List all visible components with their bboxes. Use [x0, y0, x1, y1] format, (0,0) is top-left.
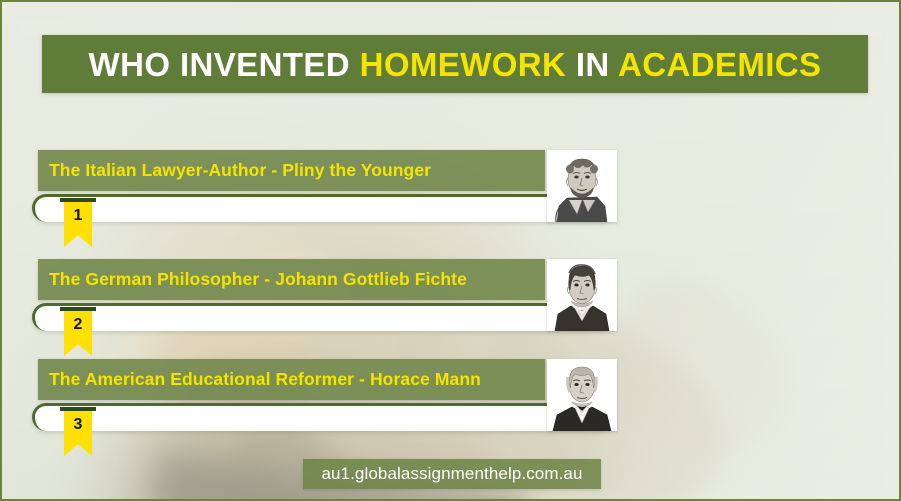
row-label-bar: The American Educational Reformer - Hora… — [38, 359, 545, 400]
row-pill-background — [32, 303, 615, 331]
title-segment-1: WHO INVENTED — [89, 46, 360, 83]
row-number-ribbon: 1 — [64, 198, 92, 247]
johann-gottlieb-fichte-portrait — [547, 259, 617, 331]
list-item-number: 3 — [74, 411, 83, 456]
ribbon-body: 3 — [64, 411, 92, 456]
title-bar: WHO INVENTED HOMEWORK IN ACADEMICS — [42, 35, 868, 93]
portrait-illustration — [547, 359, 617, 431]
row-pill-background — [32, 403, 615, 431]
portrait-illustration — [547, 259, 617, 331]
portrait-illustration — [547, 150, 617, 222]
row-number-ribbon: 2 — [64, 307, 92, 356]
ribbon-cap — [60, 307, 96, 311]
footer-url-text: au1.globalassignmenthelp.com.au — [321, 464, 582, 484]
list-item-number: 2 — [74, 311, 83, 356]
page-title: WHO INVENTED HOMEWORK IN ACADEMICS — [89, 48, 822, 81]
horace-mann-portrait — [547, 359, 617, 431]
list-item-number: 1 — [74, 202, 83, 247]
ribbon-cap — [60, 407, 96, 411]
row-label-bar: The Italian Lawyer-Author - Pliny the Yo… — [38, 150, 545, 191]
title-segment-4: ACADEMICS — [618, 46, 821, 83]
title-segment-2: HOMEWORK — [360, 46, 576, 83]
ribbon-cap — [60, 198, 96, 202]
list-item-label: The German Philosopher - Johann Gottlieb… — [38, 269, 467, 290]
row-number-ribbon: 3 — [64, 407, 92, 456]
title-segment-3: IN — [576, 46, 618, 83]
infographic-canvas: WHO INVENTED HOMEWORK IN ACADEMICS The I… — [0, 0, 901, 501]
pliny-the-younger-portrait — [547, 150, 617, 222]
row-pill-background — [32, 194, 615, 222]
ribbon-body: 2 — [64, 311, 92, 356]
list-item-label: The American Educational Reformer - Hora… — [38, 369, 481, 390]
footer-url-bar[interactable]: au1.globalassignmenthelp.com.au — [303, 459, 601, 489]
list-item-label: The Italian Lawyer-Author - Pliny the Yo… — [38, 160, 431, 181]
row-label-bar: The German Philosopher - Johann Gottlieb… — [38, 259, 545, 300]
ribbon-body: 1 — [64, 202, 92, 247]
